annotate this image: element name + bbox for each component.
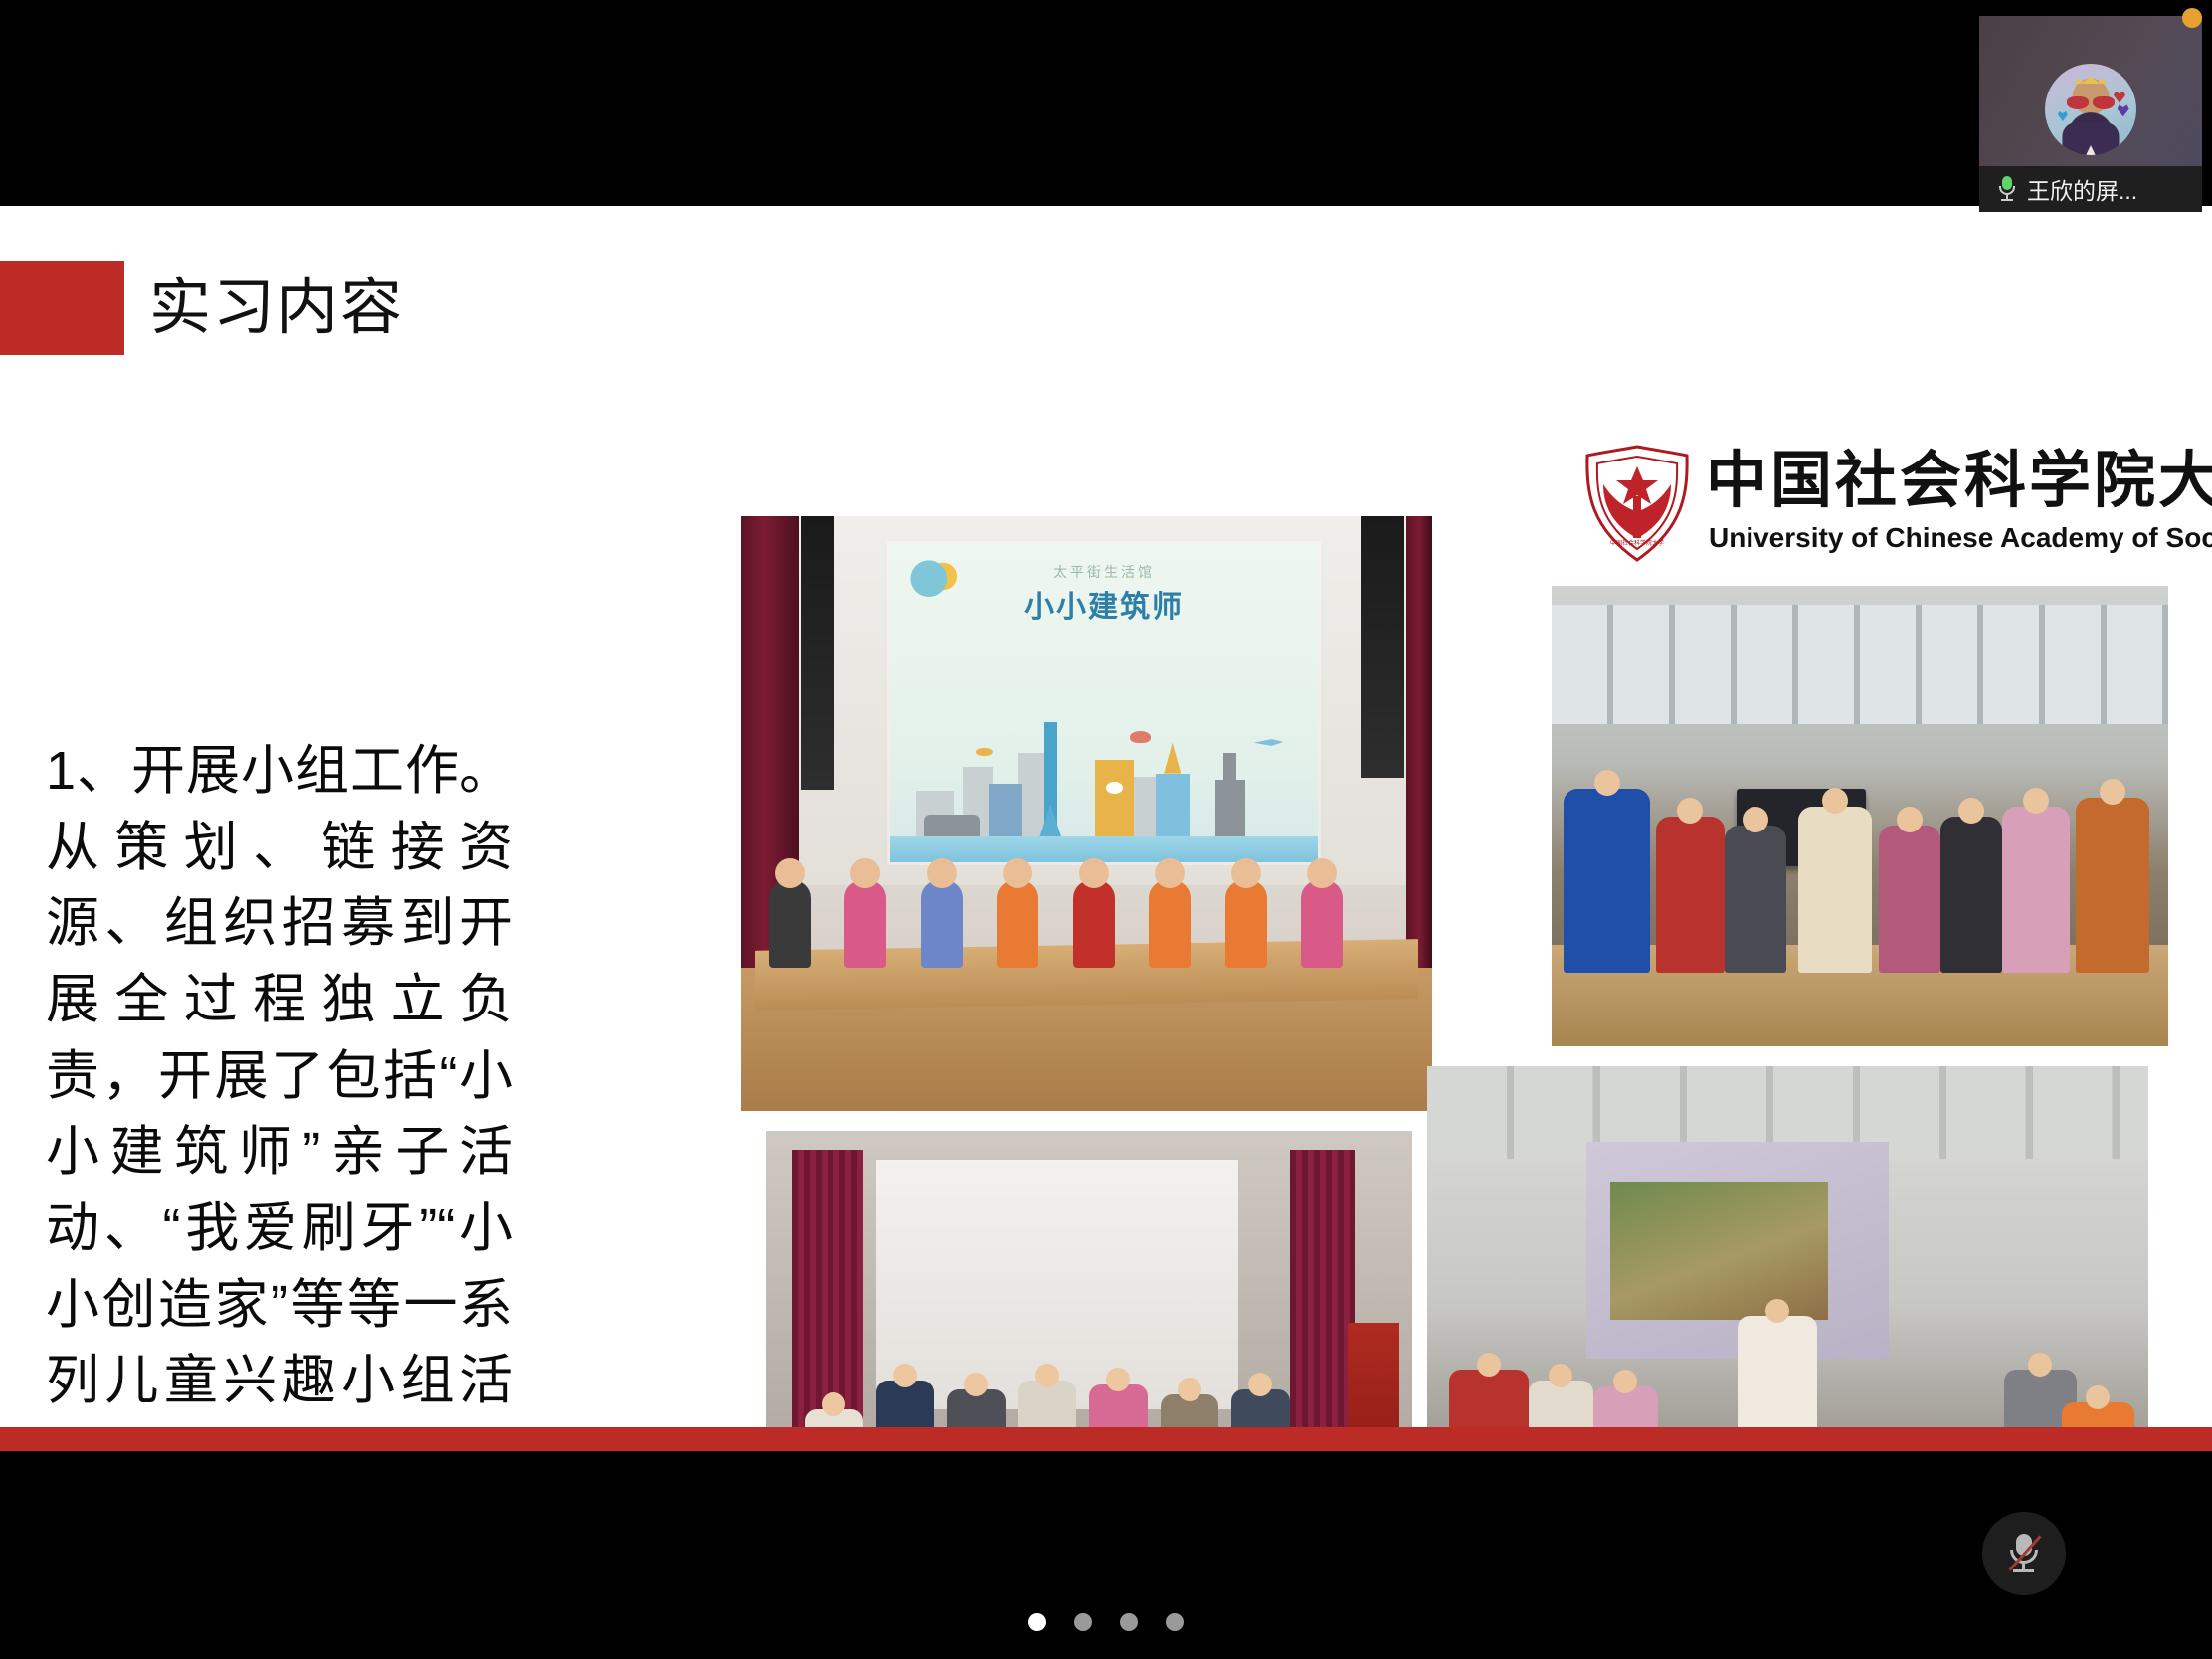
microphone-muted-icon (2004, 1532, 2044, 1575)
logo-english-name: University of Chinese Academy of Social … (1709, 522, 2212, 554)
avatar-body (2062, 122, 2119, 155)
university-logo: 中国社会科学院大学 中国社会科学院大学 University of Chines… (1581, 445, 2178, 566)
photo-parent-child-little-architect: 太平街生活馆 小小建筑师 (741, 516, 1432, 1111)
svg-text:中国社会科学院大学: 中国社会科学院大学 (1610, 539, 1664, 547)
slide-bottom-rule (0, 1427, 2212, 1451)
projected-subtitle: 太平街生活馆 (890, 562, 1318, 582)
microphone-on-icon (1997, 176, 2017, 202)
page-dot[interactable] (1120, 1613, 1138, 1631)
photo-classroom-workshop: 教室手工活动 (1427, 1066, 2148, 1451)
participant-video-tile[interactable] (1979, 16, 2202, 166)
logo-chinese-name: 中国社会科学院大学 (1706, 447, 2212, 516)
screen-share-viewer: 实习内容 1、开展小组工作。 从策划、链接资源、组织招募到开展全过程独立负责，开… (0, 0, 2212, 1659)
ucass-shield-icon: 中国社会科学院大学 (1581, 445, 1693, 562)
slide-body-text: 1、开展小组工作。 从策划、链接资源、组织招募到开展全过程独立负责，开展了包括“… (46, 733, 513, 1451)
mute-button[interactable] (1982, 1512, 2066, 1595)
title-accent-block (0, 261, 124, 355)
page-dot[interactable] (1166, 1613, 1184, 1631)
avatar (2045, 64, 2136, 155)
page-indicator (0, 1613, 2212, 1631)
projected-slide: 太平街生活馆 小小建筑师 (890, 544, 1318, 862)
photo-computer-room-activity: 儿童围观电脑活动 (1552, 586, 2168, 1046)
projected-title: 小小建筑师 (890, 582, 1318, 626)
heart-sticker-icon (2118, 104, 2129, 116)
page-dot[interactable] (1028, 1613, 1046, 1631)
participant-name: 王欣的屏... (2027, 172, 2137, 206)
photo-stage-group-photo: 舞台前儿童合影 (766, 1131, 1412, 1451)
page-dot[interactable] (1074, 1613, 1092, 1631)
heart-sticker-icon (2058, 111, 2068, 121)
heart-sunglasses-icon (2067, 96, 2115, 109)
heart-sticker-icon (2114, 92, 2125, 103)
presentation-slide: 实习内容 1、开展小组工作。 从策划、链接资源、组织招募到开展全过程独立负责，开… (0, 206, 2212, 1451)
crown-icon (2074, 75, 2107, 84)
participant-name-bar: 王欣的屏... (1979, 166, 2202, 212)
page-title: 实习内容 (149, 263, 404, 354)
recording-dot (2182, 8, 2202, 28)
